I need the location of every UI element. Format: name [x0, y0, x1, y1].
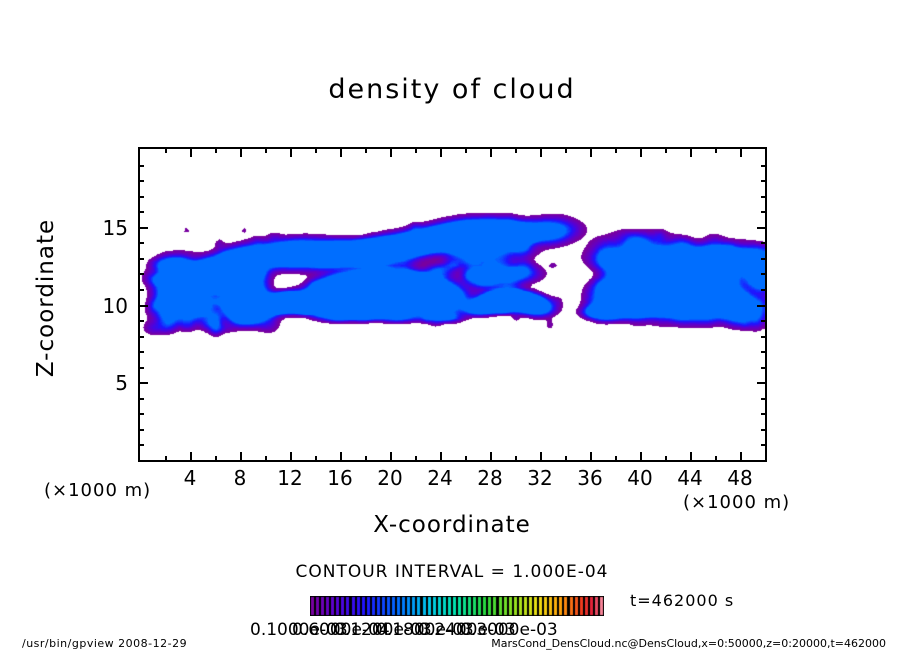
z-tick-1 — [139, 444, 144, 446]
x-tick-14 — [315, 456, 317, 461]
z-tick-right-4 — [761, 398, 766, 400]
x-tick-top-16 — [340, 148, 342, 157]
x-tick-38 — [615, 456, 617, 461]
x-tick-24 — [440, 452, 442, 461]
x-tick-top-38 — [615, 148, 617, 153]
z-tick-13 — [139, 258, 144, 260]
x-tick-label-4: 4 — [170, 466, 210, 490]
x-tick-top-42 — [665, 148, 667, 153]
x-tick-4 — [190, 452, 192, 461]
z-tick-right-1 — [761, 444, 766, 446]
x-tick-top-12 — [290, 148, 292, 157]
z-tick-right-2 — [761, 429, 766, 431]
z-tick-right-11 — [761, 289, 766, 291]
colorbar-gradient — [310, 596, 604, 616]
page-title: density of cloud — [0, 74, 904, 105]
contour-interval-label: CONTOUR INTERVAL = 1.000E-04 — [0, 562, 904, 582]
z-tick-right-5 — [757, 382, 766, 384]
z-tick-right-14 — [761, 242, 766, 244]
x-tick-label-36: 36 — [570, 466, 610, 490]
z-tick-12 — [139, 273, 144, 275]
z-tick-label-5: 5 — [94, 371, 128, 393]
x-tick-48 — [740, 452, 742, 461]
z-tick-right-8 — [761, 336, 766, 338]
cloud-density-field — [140, 149, 765, 460]
z-tick-right-19 — [761, 165, 766, 167]
x-tick-top-48 — [740, 148, 742, 157]
x-tick-label-40: 40 — [620, 466, 660, 490]
x-tick-label-28: 28 — [470, 466, 510, 490]
x-tick-top-28 — [490, 148, 492, 157]
x-tick-top-20 — [390, 148, 392, 157]
z-tick-16 — [139, 211, 144, 213]
z-tick-15 — [139, 227, 148, 229]
z-tick-10 — [139, 305, 148, 307]
x-tick-top-46 — [715, 148, 717, 153]
z-tick-7 — [139, 351, 144, 353]
x-tick-label-16: 16 — [320, 466, 360, 490]
z-tick-4 — [139, 398, 144, 400]
x-tick-top-44 — [690, 148, 692, 157]
x-tick-top-14 — [315, 148, 317, 153]
x-tick-label-48: 48 — [720, 466, 760, 490]
z-tick-9 — [139, 320, 144, 322]
footer-command-label: /usr/bin/gpview 2008-12-29 — [22, 637, 187, 650]
x-tick-42 — [665, 456, 667, 461]
x-unit-left-label: (×1000 m) — [44, 480, 151, 501]
z-tick-3 — [139, 413, 144, 415]
x-tick-18 — [365, 456, 367, 461]
x-tick-22 — [415, 456, 417, 461]
x-tick-top-6 — [215, 148, 217, 153]
x-tick-label-20: 20 — [370, 466, 410, 490]
z-tick-8 — [139, 336, 144, 338]
x-tick-top-24 — [440, 148, 442, 157]
z-tick-right-10 — [757, 305, 766, 307]
z-tick-right-7 — [761, 351, 766, 353]
z-tick-right-9 — [761, 320, 766, 322]
z-tick-19 — [139, 165, 144, 167]
z-tick-right-13 — [761, 258, 766, 260]
z-tick-17 — [139, 196, 144, 198]
x-tick-top-22 — [415, 148, 417, 153]
x-tick-label-44: 44 — [670, 466, 710, 490]
z-tick-right-16 — [761, 211, 766, 213]
x-tick-label-32: 32 — [520, 466, 560, 490]
contour-plot-area[interactable] — [138, 147, 767, 462]
x-tick-44 — [690, 452, 692, 461]
z-tick-5 — [139, 382, 148, 384]
z-tick-right-15 — [757, 227, 766, 229]
x-tick-10 — [265, 456, 267, 461]
z-tick-right-17 — [761, 196, 766, 198]
y-axis-title: Z-coordinate — [33, 188, 59, 408]
x-tick-label-8: 8 — [220, 466, 260, 490]
z-tick-2 — [139, 429, 144, 431]
x-tick-top-40 — [640, 148, 642, 157]
z-tick-11 — [139, 289, 144, 291]
z-tick-right-3 — [761, 413, 766, 415]
x-tick-2 — [165, 456, 167, 461]
x-tick-6 — [215, 456, 217, 461]
x-tick-32 — [540, 452, 542, 461]
z-tick-18 — [139, 180, 144, 182]
x-tick-top-4 — [190, 148, 192, 157]
z-tick-right-18 — [761, 180, 766, 182]
x-tick-20 — [390, 452, 392, 461]
x-unit-right-label: (×1000 m) — [683, 492, 790, 513]
x-tick-top-10 — [265, 148, 267, 153]
x-tick-top-8 — [240, 148, 242, 157]
x-tick-top-2 — [165, 148, 167, 153]
x-tick-label-24: 24 — [420, 466, 460, 490]
colorbar[interactable] — [310, 596, 604, 616]
z-tick-6 — [139, 367, 144, 369]
x-tick-top-18 — [365, 148, 367, 153]
time-label: t=462000 s — [630, 591, 734, 610]
z-tick-right-6 — [761, 367, 766, 369]
x-tick-top-26 — [465, 148, 467, 153]
x-tick-36 — [590, 452, 592, 461]
x-tick-40 — [640, 452, 642, 461]
x-tick-46 — [715, 456, 717, 461]
z-tick-label-15: 15 — [94, 216, 128, 238]
x-tick-26 — [465, 456, 467, 461]
footer-source-label: MarsCond_DensCloud.nc@DensCloud,x=0:5000… — [491, 637, 886, 650]
x-tick-30 — [515, 456, 517, 461]
x-tick-label-12: 12 — [270, 466, 310, 490]
x-tick-top-36 — [590, 148, 592, 157]
z-tick-label-10: 10 — [94, 294, 128, 316]
z-tick-14 — [139, 242, 144, 244]
x-tick-top-30 — [515, 148, 517, 153]
x-tick-top-34 — [565, 148, 567, 153]
x-tick-top-32 — [540, 148, 542, 157]
x-tick-28 — [490, 452, 492, 461]
x-tick-16 — [340, 452, 342, 461]
z-tick-right-12 — [761, 273, 766, 275]
x-tick-8 — [240, 452, 242, 461]
x-tick-34 — [565, 456, 567, 461]
x-tick-12 — [290, 452, 292, 461]
x-axis-title: X-coordinate — [0, 512, 904, 538]
